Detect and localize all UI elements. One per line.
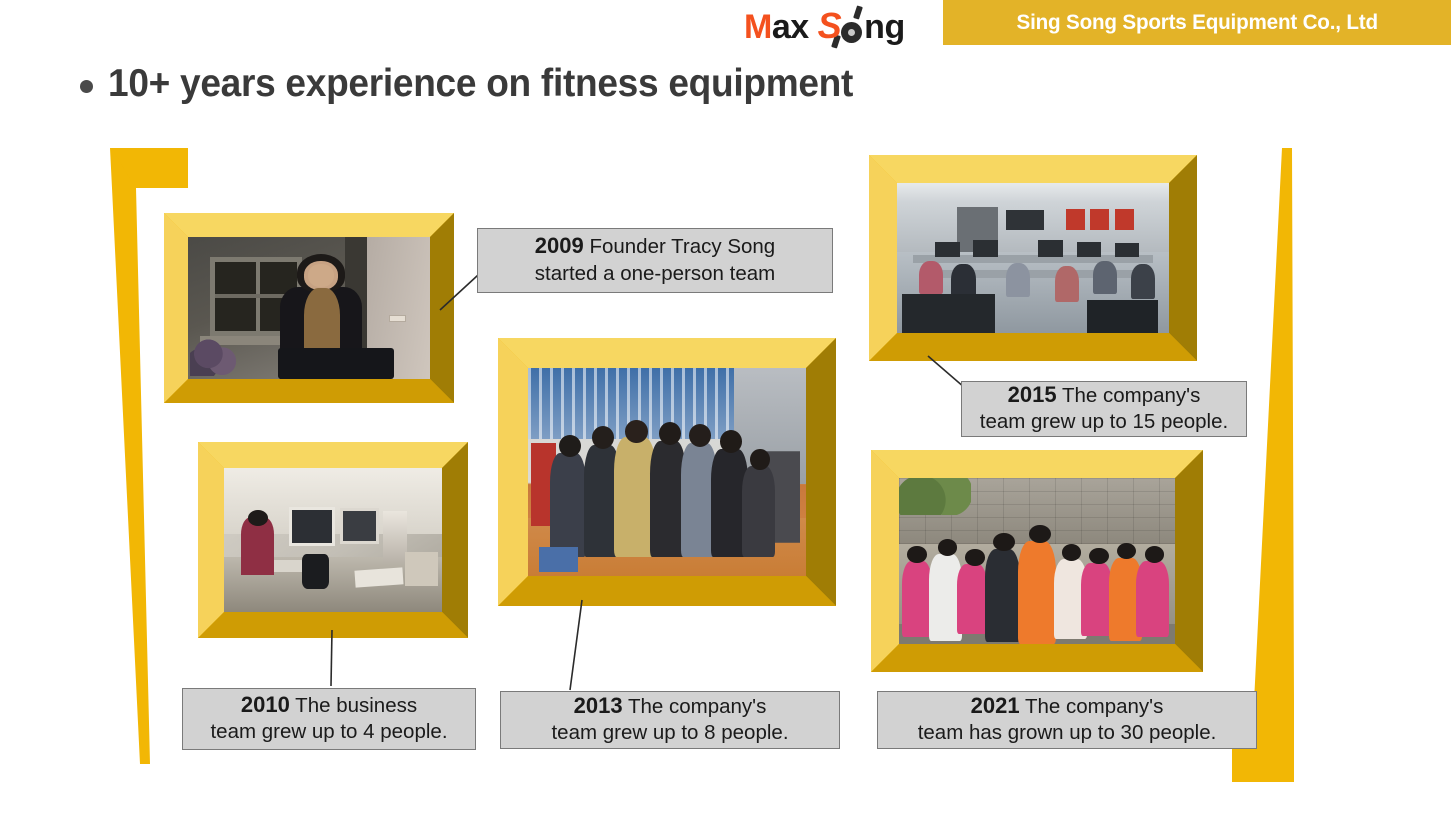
page-title-text: 10+ years experience on fitness equipmen… xyxy=(108,62,853,106)
photo-frame-2010 xyxy=(198,442,468,638)
milestone-line1-text: The company's xyxy=(1025,695,1163,718)
photo-2015-open-office xyxy=(897,183,1169,333)
logo-word-song: S ng xyxy=(818,8,905,44)
photo-2009-founder xyxy=(188,237,430,379)
connector-2010 xyxy=(328,630,336,688)
frame-bevel-left xyxy=(871,450,899,672)
frame-bevel-right xyxy=(1175,450,1203,672)
dumbbell-bar-top xyxy=(853,5,863,19)
milestone-line2-text: team grew up to 4 people. xyxy=(210,719,447,745)
frame-bevel-right xyxy=(806,338,836,606)
frame-bevel-top xyxy=(871,450,1203,478)
page-title: 10+ years experience on fitness equipmen… xyxy=(80,62,892,106)
header-company-bar: Sing Song Sports Equipment Co., Ltd xyxy=(943,0,1451,45)
milestone-line1-text: The company's xyxy=(1062,384,1200,407)
right-corner-bracket xyxy=(1232,146,1318,786)
caption-line-1: 2013 The company's xyxy=(574,692,767,720)
caption-line-1: 2010 The business xyxy=(241,691,417,719)
milestone-caption-2015: 2015 The company's team grew up to 15 pe… xyxy=(961,381,1247,437)
photo-frame-2009 xyxy=(164,213,454,403)
photo-frame-2021 xyxy=(871,450,1203,672)
milestone-line1-text: The business xyxy=(295,694,417,717)
logo-letters-ng: ng xyxy=(864,10,905,44)
caption-line-1: 2021 The company's xyxy=(971,692,1164,720)
caption-line-1: 2015 The company's xyxy=(1008,381,1201,409)
photo-2021-team-outdoors xyxy=(899,478,1175,644)
frame-bevel-right xyxy=(442,442,468,638)
logo-letter-m: M xyxy=(744,10,772,44)
company-logo: M ax S ng xyxy=(744,4,905,44)
milestone-caption-2021: 2021 The company's team has grown up to … xyxy=(877,691,1257,749)
frame-bevel-bottom xyxy=(164,379,454,403)
milestone-line2-text: started a one-person team xyxy=(535,261,775,287)
frame-bevel-top xyxy=(498,338,836,368)
photo-2010-office-desk xyxy=(224,468,442,612)
frame-bevel-bottom xyxy=(869,333,1197,361)
milestone-year: 2010 xyxy=(241,692,290,717)
milestone-year: 2009 xyxy=(535,233,584,258)
connector-2013 xyxy=(568,600,586,692)
frame-bevel-left xyxy=(498,338,528,606)
milestone-line1-text: Founder Tracy Song xyxy=(589,235,775,258)
milestone-line2-text: team grew up to 15 people. xyxy=(980,409,1228,435)
frame-bevel-bottom xyxy=(498,576,836,606)
frame-bevel-left xyxy=(869,155,897,361)
frame-bevel-right xyxy=(1169,155,1197,361)
frame-bevel-left xyxy=(164,213,188,403)
milestone-line1-text: The company's xyxy=(628,695,766,718)
frame-bevel-top xyxy=(198,442,468,468)
slide-canvas: Sing Song Sports Equipment Co., Ltd M ax… xyxy=(0,0,1451,817)
milestone-caption-2013: 2013 The company's team grew up to 8 peo… xyxy=(500,691,840,749)
frame-bevel-bottom xyxy=(871,644,1203,672)
frame-bevel-top xyxy=(164,213,454,237)
logo-letters-ax: ax xyxy=(772,10,809,44)
weight-plate-circle xyxy=(841,22,862,43)
milestone-caption-2010: 2010 The business team grew up to 4 peop… xyxy=(182,688,476,750)
logo-weight-plate-icon xyxy=(841,10,864,44)
frame-bevel-left xyxy=(198,442,224,638)
frame-bevel-top xyxy=(869,155,1197,183)
logo-letter-s: S xyxy=(818,8,842,44)
milestone-year: 2015 xyxy=(1008,382,1057,407)
company-name-text: Sing Song Sports Equipment Co., Ltd xyxy=(1016,10,1377,35)
caption-line-1: 2009 Founder Tracy Song xyxy=(535,232,775,260)
milestone-year: 2021 xyxy=(971,693,1020,718)
photo-frame-2015 xyxy=(869,155,1197,361)
photo-2013-team-expo xyxy=(528,368,806,576)
milestone-year: 2013 xyxy=(574,693,623,718)
milestone-line2-text: team has grown up to 30 people. xyxy=(918,720,1217,746)
bullet-dot-icon xyxy=(80,80,93,93)
milestone-line2-text: team grew up to 8 people. xyxy=(551,720,788,746)
photo-frame-2013 xyxy=(498,338,836,606)
milestone-caption-2009: 2009 Founder Tracy Song started a one-pe… xyxy=(477,228,833,293)
